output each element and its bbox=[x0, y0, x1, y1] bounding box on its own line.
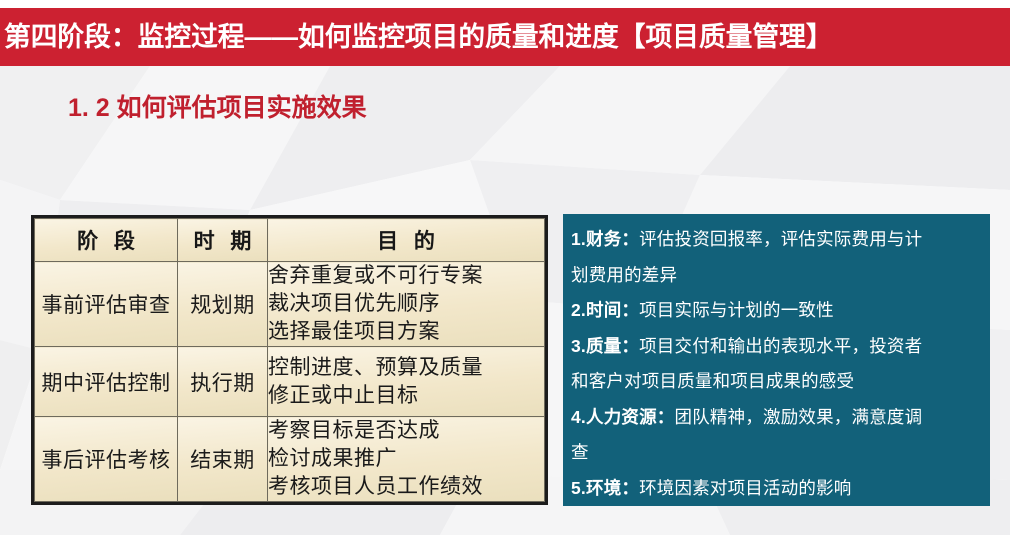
cell-stage: 事后评估考核 bbox=[35, 417, 178, 502]
table-row: 期中评估控制 执行期 控制进度、预算及质量 修正或中止目标 bbox=[35, 347, 545, 417]
evaluation-table-container: 阶 段 时 期 目 的 事前评估审查 规划期 舍弃重复或不可行专案 裁决项目优先… bbox=[31, 215, 548, 505]
page-title: 第四阶段：监控过程——如何监控项目的质量和进度【项目质量管理】 bbox=[0, 24, 833, 51]
criteria-text: 团队精神，激励效果，满意度调 bbox=[675, 407, 923, 427]
criteria-text: 项目交付和输出的表现水平，投资者 bbox=[639, 336, 922, 356]
criteria-text: 划费用的差异 bbox=[571, 265, 677, 285]
cell-stage: 期中评估控制 bbox=[35, 347, 178, 417]
cell-goal: 考察目标是否达成 检讨成果推广 考核项目人员工作绩效 bbox=[268, 417, 545, 502]
table-row: 事前评估审查 规划期 舍弃重复或不可行专案 裁决项目优先顺序 选择最佳项目方案 bbox=[35, 262, 545, 347]
goal-line: 控制进度、预算及质量 bbox=[268, 354, 544, 382]
section-subtitle: 1. 2 如何评估项目实施效果 bbox=[68, 88, 367, 124]
criteria-line: 和客户对项目质量和项目成果的感受 bbox=[571, 364, 980, 400]
column-header-stage: 阶 段 bbox=[35, 219, 178, 262]
goal-line: 舍弃重复或不可行专案 bbox=[268, 262, 544, 290]
cell-goal: 控制进度、预算及质量 修正或中止目标 bbox=[268, 347, 545, 417]
column-header-goal: 目 的 bbox=[268, 219, 545, 262]
table-row: 事后评估考核 结束期 考察目标是否达成 检讨成果推广 考核项目人员工作绩效 bbox=[35, 417, 545, 502]
slide-canvas: 第四阶段：监控过程——如何监控项目的质量和进度【项目质量管理】 1. 2 如何评… bbox=[0, 0, 1010, 535]
table-header-row: 阶 段 时 期 目 的 bbox=[35, 219, 545, 262]
criteria-text: 项目实际与计划的一致性 bbox=[639, 300, 834, 320]
header-banner: 第四阶段：监控过程——如何监控项目的质量和进度【项目质量管理】 bbox=[0, 8, 1010, 66]
criteria-panel: 1.财务：评估投资回报率，评估实际费用与计 划费用的差异 2.时间：项目实际与计… bbox=[563, 214, 990, 506]
goal-line: 选择最佳项目方案 bbox=[268, 318, 544, 346]
goal-line: 修正或中止目标 bbox=[268, 382, 544, 410]
goal-line: 裁决项目优先顺序 bbox=[268, 290, 544, 318]
column-header-period: 时 期 bbox=[178, 219, 268, 262]
goal-line: 考核项目人员工作绩效 bbox=[268, 473, 544, 501]
cell-period: 执行期 bbox=[178, 347, 268, 417]
criteria-line: 划费用的差异 bbox=[571, 258, 980, 294]
criteria-line: 5.环境：环境因素对项目活动的影响 bbox=[571, 471, 980, 507]
goal-line: 考察目标是否达成 bbox=[268, 417, 544, 445]
criteria-text: 环境因素对项目活动的影响 bbox=[639, 478, 851, 498]
cell-period: 规划期 bbox=[178, 262, 268, 347]
criteria-line: 2.时间：项目实际与计划的一致性 bbox=[571, 293, 980, 329]
criteria-text: 评估投资回报率，评估实际费用与计 bbox=[639, 229, 922, 249]
criteria-label: 1.财务： bbox=[571, 229, 639, 249]
cell-period: 结束期 bbox=[178, 417, 268, 502]
criteria-label: 3.质量： bbox=[571, 336, 639, 356]
criteria-line: 4.人力资源：团队精神，激励效果，满意度调 bbox=[571, 400, 980, 436]
criteria-text: 和客户对项目质量和项目成果的感受 bbox=[571, 371, 854, 391]
evaluation-table: 阶 段 时 期 目 的 事前评估审查 规划期 舍弃重复或不可行专案 裁决项目优先… bbox=[34, 218, 545, 502]
criteria-line: 1.财务：评估投资回报率，评估实际费用与计 bbox=[571, 222, 980, 258]
criteria-label: 5.环境： bbox=[571, 478, 639, 498]
goal-line: 检讨成果推广 bbox=[268, 445, 544, 473]
criteria-line: 查 bbox=[571, 435, 980, 471]
criteria-label: 4.人力资源： bbox=[571, 407, 675, 427]
cell-goal: 舍弃重复或不可行专案 裁决项目优先顺序 选择最佳项目方案 bbox=[268, 262, 545, 347]
cell-stage: 事前评估审查 bbox=[35, 262, 178, 347]
criteria-line: 3.质量：项目交付和输出的表现水平，投资者 bbox=[571, 329, 980, 365]
criteria-label: 2.时间： bbox=[571, 300, 639, 320]
criteria-text: 查 bbox=[571, 442, 589, 462]
